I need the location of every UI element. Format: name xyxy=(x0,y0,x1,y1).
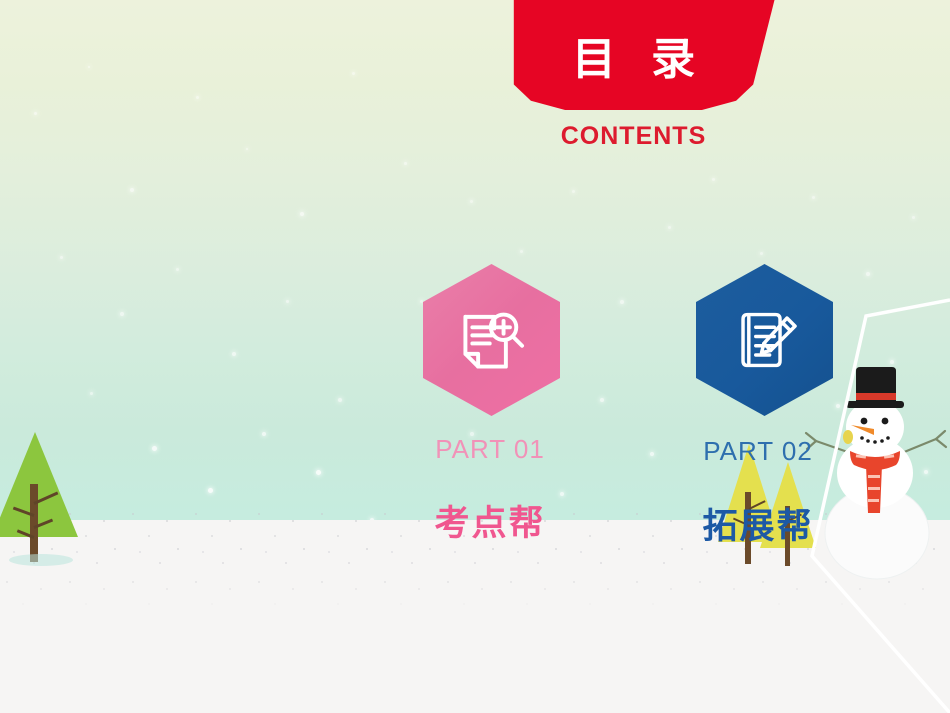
document-magnifier-zoom-in-icon xyxy=(455,303,529,377)
part-label-02: PART 02 xyxy=(658,436,858,467)
document-pencil-edit-icon xyxy=(728,303,802,377)
part-label-01: PART 01 xyxy=(390,434,590,465)
hexagon-badge-blue[interactable] xyxy=(696,264,833,416)
part-title-01: 考点帮 xyxy=(390,495,590,546)
hexagon-badge-pink[interactable] xyxy=(423,264,560,416)
contents-slide: 目 录 CONTENTS PART 01 考点帮 xyxy=(0,0,950,713)
part-title-02: 拓展帮 xyxy=(658,498,858,549)
section-card-part-02[interactable] xyxy=(696,264,833,416)
section-card-part-01[interactable] xyxy=(423,264,560,416)
banner-subtitle: CONTENTS xyxy=(491,122,776,151)
banner-title: 目 录 xyxy=(491,38,776,82)
